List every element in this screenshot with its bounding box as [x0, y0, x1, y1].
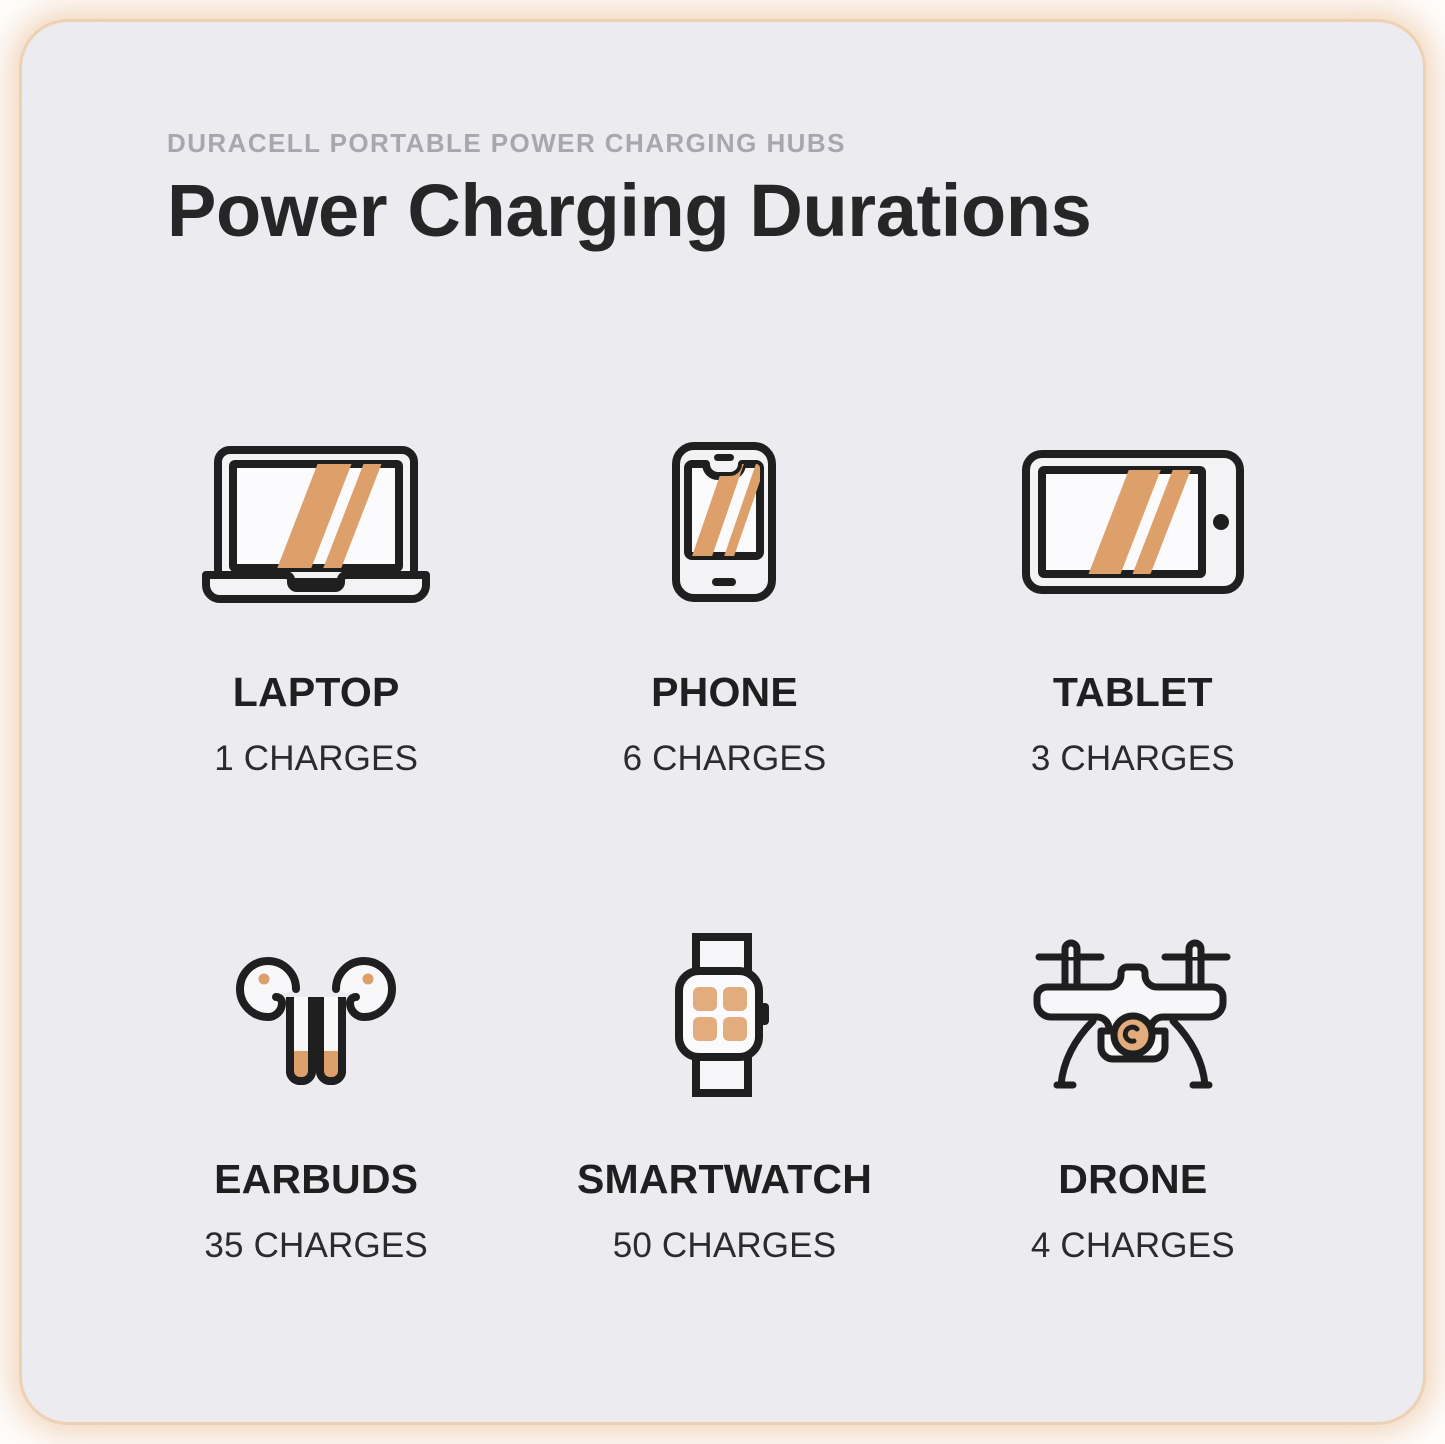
device-value: 6 CHARGES [623, 741, 827, 776]
header: DURACELL PORTABLE POWER CHARGING HUBS Po… [167, 130, 1287, 250]
eyebrow-text: DURACELL PORTABLE POWER CHARGING HUBS [167, 130, 1287, 156]
infographic-card: DURACELL PORTABLE POWER CHARGING HUBS Po… [22, 22, 1423, 1422]
sensor-dot [259, 973, 270, 984]
laptop-icon-slot [200, 422, 432, 622]
earbud-left [240, 961, 312, 1081]
sensor-dot [363, 973, 374, 984]
earbuds-icon [226, 931, 406, 1099]
home-button-dot [1213, 514, 1229, 530]
device-cell-phone: PHONE 6 CHARGES [520, 422, 928, 922]
device-cell-laptop: LAPTOP 1 CHARGES [112, 422, 520, 922]
device-cell-earbuds: EARBUDS 35 CHARGES [112, 922, 520, 1422]
drone-icon [1033, 935, 1233, 1095]
laptop-icon [200, 442, 432, 602]
device-label: PHONE [651, 672, 798, 713]
device-value: 4 CHARGES [1031, 1228, 1235, 1263]
drone-leg-left [1061, 1021, 1093, 1085]
tablet-icon [1020, 446, 1246, 598]
device-label: TABLET [1053, 672, 1213, 713]
phone-icon-slot [672, 422, 776, 622]
device-cell-tablet: TABLET 3 CHARGES [929, 422, 1337, 922]
phone-icon [672, 442, 776, 602]
drone-leg-right [1173, 1021, 1205, 1085]
device-grid: LAPTOP 1 CHARGES [112, 422, 1337, 1422]
device-label: EARBUDS [214, 1159, 418, 1200]
tablet-icon-slot [1020, 422, 1246, 622]
device-value: 50 CHARGES [613, 1228, 837, 1263]
infographic-page: DURACELL PORTABLE POWER CHARGING HUBS Po… [0, 0, 1445, 1444]
device-value: 35 CHARGES [204, 1228, 428, 1263]
smartwatch-icon [669, 931, 779, 1099]
page-title: Power Charging Durations [167, 172, 1287, 250]
device-label: DRONE [1058, 1159, 1207, 1200]
earbud-right [320, 961, 392, 1081]
device-label: LAPTOP [233, 672, 400, 713]
device-label: SMARTWATCH [577, 1159, 872, 1200]
device-cell-smartwatch: SMARTWATCH 50 CHARGES [520, 922, 928, 1422]
device-value: 1 CHARGES [214, 741, 418, 776]
drone-icon-slot [1033, 922, 1233, 1107]
earbuds-icon-slot [226, 922, 406, 1107]
device-cell-drone: DRONE 4 CHARGES [929, 922, 1337, 1422]
device-value: 3 CHARGES [1031, 741, 1235, 776]
smartwatch-icon-slot [669, 922, 779, 1107]
camera-gimbal [1114, 1016, 1152, 1054]
